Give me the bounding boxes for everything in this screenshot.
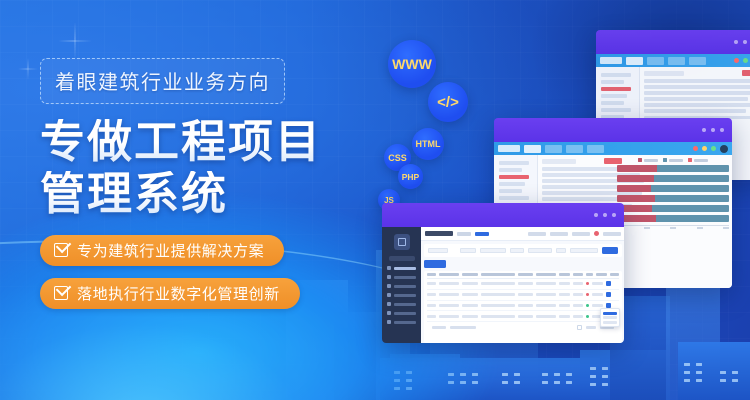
avatar[interactable]	[720, 145, 728, 153]
primary-button[interactable]	[742, 70, 750, 76]
nav-item[interactable]	[668, 57, 685, 65]
nav-item[interactable]	[647, 57, 664, 65]
filter-select[interactable]	[480, 248, 506, 253]
window-control-dot	[612, 213, 616, 217]
window-title-bar	[382, 203, 624, 227]
nav-item[interactable]	[545, 145, 562, 153]
promo-banner: 着眼建筑行业业务方向 专做工程项目 管理系统 专为建筑行业提供解决方案 落地执行…	[0, 0, 750, 400]
subtitle-text: 着眼建筑行业业务方向	[55, 66, 270, 95]
chart-axis	[617, 225, 729, 226]
feature-badge[interactable]: 专为建筑行业提供解决方案	[40, 235, 284, 266]
toolbar-menu-item[interactable]	[572, 232, 590, 236]
context-menu-item[interactable]	[603, 321, 617, 324]
filter-select[interactable]	[556, 248, 566, 253]
sidebar-item[interactable]	[387, 266, 416, 270]
filter-bar	[424, 244, 622, 257]
window-title-bar	[596, 30, 750, 54]
checkbox-checked-icon	[54, 286, 68, 300]
search-input[interactable]	[542, 159, 576, 164]
chart-axis-ticks	[617, 227, 729, 229]
table-row[interactable]	[427, 279, 619, 290]
tree-node[interactable]	[601, 94, 627, 98]
tech-keyword-bubbles: WWW </> HTML CSS PHP JS 0	[372, 36, 492, 216]
headline-line-2: 管理系统	[40, 171, 340, 217]
context-menu-item[interactable]	[603, 316, 617, 319]
context-menu-item[interactable]	[603, 312, 617, 315]
feature-badge-label: 专为建筑行业提供解决方案	[77, 240, 264, 261]
chart-bar	[617, 175, 729, 182]
tree-node[interactable]	[499, 182, 525, 186]
nav-item[interactable]	[587, 145, 604, 153]
window-control-dot	[594, 213, 598, 217]
nav-item[interactable]	[566, 145, 583, 153]
tree-node[interactable]	[601, 80, 624, 84]
tree-node[interactable]	[499, 168, 522, 172]
alert-icon[interactable]	[693, 146, 698, 151]
legend-entry	[688, 158, 708, 162]
chart-bar	[617, 165, 729, 172]
bubble-html: HTML	[412, 128, 444, 160]
toolbar-menu-item[interactable]	[550, 232, 568, 236]
tree-node[interactable]	[601, 108, 631, 112]
sparkle-icon	[18, 58, 38, 80]
status-icon[interactable]	[743, 58, 748, 63]
checkbox-checked-icon	[54, 243, 68, 257]
alert-icon[interactable]	[734, 58, 739, 63]
search-input[interactable]	[644, 71, 684, 76]
headline-line-1: 专做工程项目	[40, 119, 340, 165]
legend-entry	[638, 158, 658, 162]
filter-select[interactable]	[528, 248, 552, 253]
app-navbar	[596, 54, 750, 67]
page-title: 专做工程项目 管理系统	[40, 119, 340, 217]
tree-node[interactable]	[499, 161, 529, 165]
chart-legend	[617, 158, 729, 162]
window-control-dot	[603, 213, 607, 217]
sidebar-item[interactable]	[387, 302, 416, 306]
table-row	[644, 91, 750, 95]
row-action-icon[interactable]	[606, 281, 611, 286]
top-toolbar	[421, 227, 624, 241]
search-button[interactable]	[602, 247, 618, 254]
sparkle-icon	[58, 22, 92, 60]
app-logo	[600, 57, 622, 64]
pagination-page[interactable]	[577, 325, 582, 330]
bar-chart	[617, 158, 729, 285]
warning-icon[interactable]	[702, 146, 707, 151]
context-menu[interactable]	[600, 308, 620, 327]
table-row	[644, 103, 750, 107]
tree-node-selected[interactable]	[601, 87, 631, 91]
user-menu[interactable]	[603, 232, 621, 236]
app-logo	[498, 145, 520, 152]
sidebar-item[interactable]	[387, 275, 416, 279]
sidebar-item[interactable]	[387, 311, 416, 315]
table-row	[644, 79, 750, 83]
chart-bar	[617, 205, 729, 212]
filter-select[interactable]	[460, 248, 476, 253]
app-navbar	[494, 142, 732, 155]
window-control-dot	[743, 40, 747, 44]
table-row[interactable]	[427, 290, 619, 301]
window-control-dot	[711, 128, 715, 132]
filter-input[interactable]	[428, 248, 448, 253]
legend-entry	[663, 158, 683, 162]
chart-bar	[617, 195, 729, 202]
nav-item[interactable]	[626, 57, 643, 65]
bubble-code: </>	[428, 82, 468, 122]
status-badge	[586, 293, 589, 296]
feature-badge-list: 专为建筑行业提供解决方案 落地执行行业数字化管理创新	[40, 235, 340, 309]
tree-node[interactable]	[601, 73, 631, 77]
tab-item-active[interactable]	[475, 232, 489, 236]
dashboard-window-front[interactable]	[382, 203, 624, 343]
add-button[interactable]	[424, 260, 446, 268]
sidebar-item[interactable]	[387, 320, 416, 324]
nav-item[interactable]	[524, 145, 541, 153]
chart-bar	[617, 185, 729, 192]
table-row[interactable]	[427, 311, 619, 322]
window-title-bar	[494, 118, 732, 142]
bubble-php: PHP	[398, 164, 423, 189]
data-table	[424, 271, 622, 343]
app-logo-icon	[394, 234, 410, 250]
main-content	[421, 227, 624, 343]
feature-badge[interactable]: 落地执行行业数字化管理创新	[40, 278, 300, 309]
table-row	[644, 85, 750, 89]
table-row[interactable]	[427, 301, 619, 312]
status-icon[interactable]	[711, 146, 716, 151]
bubble-www: WWW	[388, 40, 436, 88]
sidebar-item[interactable]	[387, 293, 416, 297]
chart-bar	[617, 215, 729, 222]
status-badge	[586, 315, 589, 318]
window-control-dot	[702, 128, 706, 132]
status-badge	[586, 304, 589, 307]
tree-node-selected[interactable]	[499, 175, 529, 179]
window-control-dot	[734, 40, 738, 44]
filter-input[interactable]	[570, 248, 598, 253]
sidebar-item[interactable]	[387, 284, 416, 288]
subtitle-box: 着眼建筑行业业务方向	[40, 58, 285, 104]
row-action-icon[interactable]	[606, 292, 611, 297]
filter-select[interactable]	[510, 248, 524, 253]
tree-node[interactable]	[499, 189, 522, 193]
status-badge	[586, 282, 589, 285]
feature-badge-label: 落地执行行业数字化管理创新	[77, 283, 280, 304]
tree-node[interactable]	[499, 196, 529, 200]
toolbar-menu-item[interactable]	[528, 232, 546, 236]
tree-node[interactable]	[601, 101, 624, 105]
nav-item[interactable]	[689, 57, 706, 65]
notification-badge[interactable]	[594, 231, 599, 236]
table-row	[644, 109, 746, 113]
sidebar-collapse-button[interactable]	[389, 256, 415, 261]
table-row	[644, 97, 748, 101]
headline-copy-block: 着眼建筑行业业务方向 专做工程项目 管理系统 专为建筑行业提供解决方案 落地执行…	[40, 58, 340, 309]
app-sidebar[interactable]	[382, 227, 421, 343]
table-footer	[427, 322, 619, 333]
tab-item[interactable]	[457, 232, 471, 236]
page-title-block	[425, 231, 453, 236]
window-control-dot	[720, 128, 724, 132]
toolbar-row	[644, 70, 750, 76]
window-body	[382, 227, 624, 343]
